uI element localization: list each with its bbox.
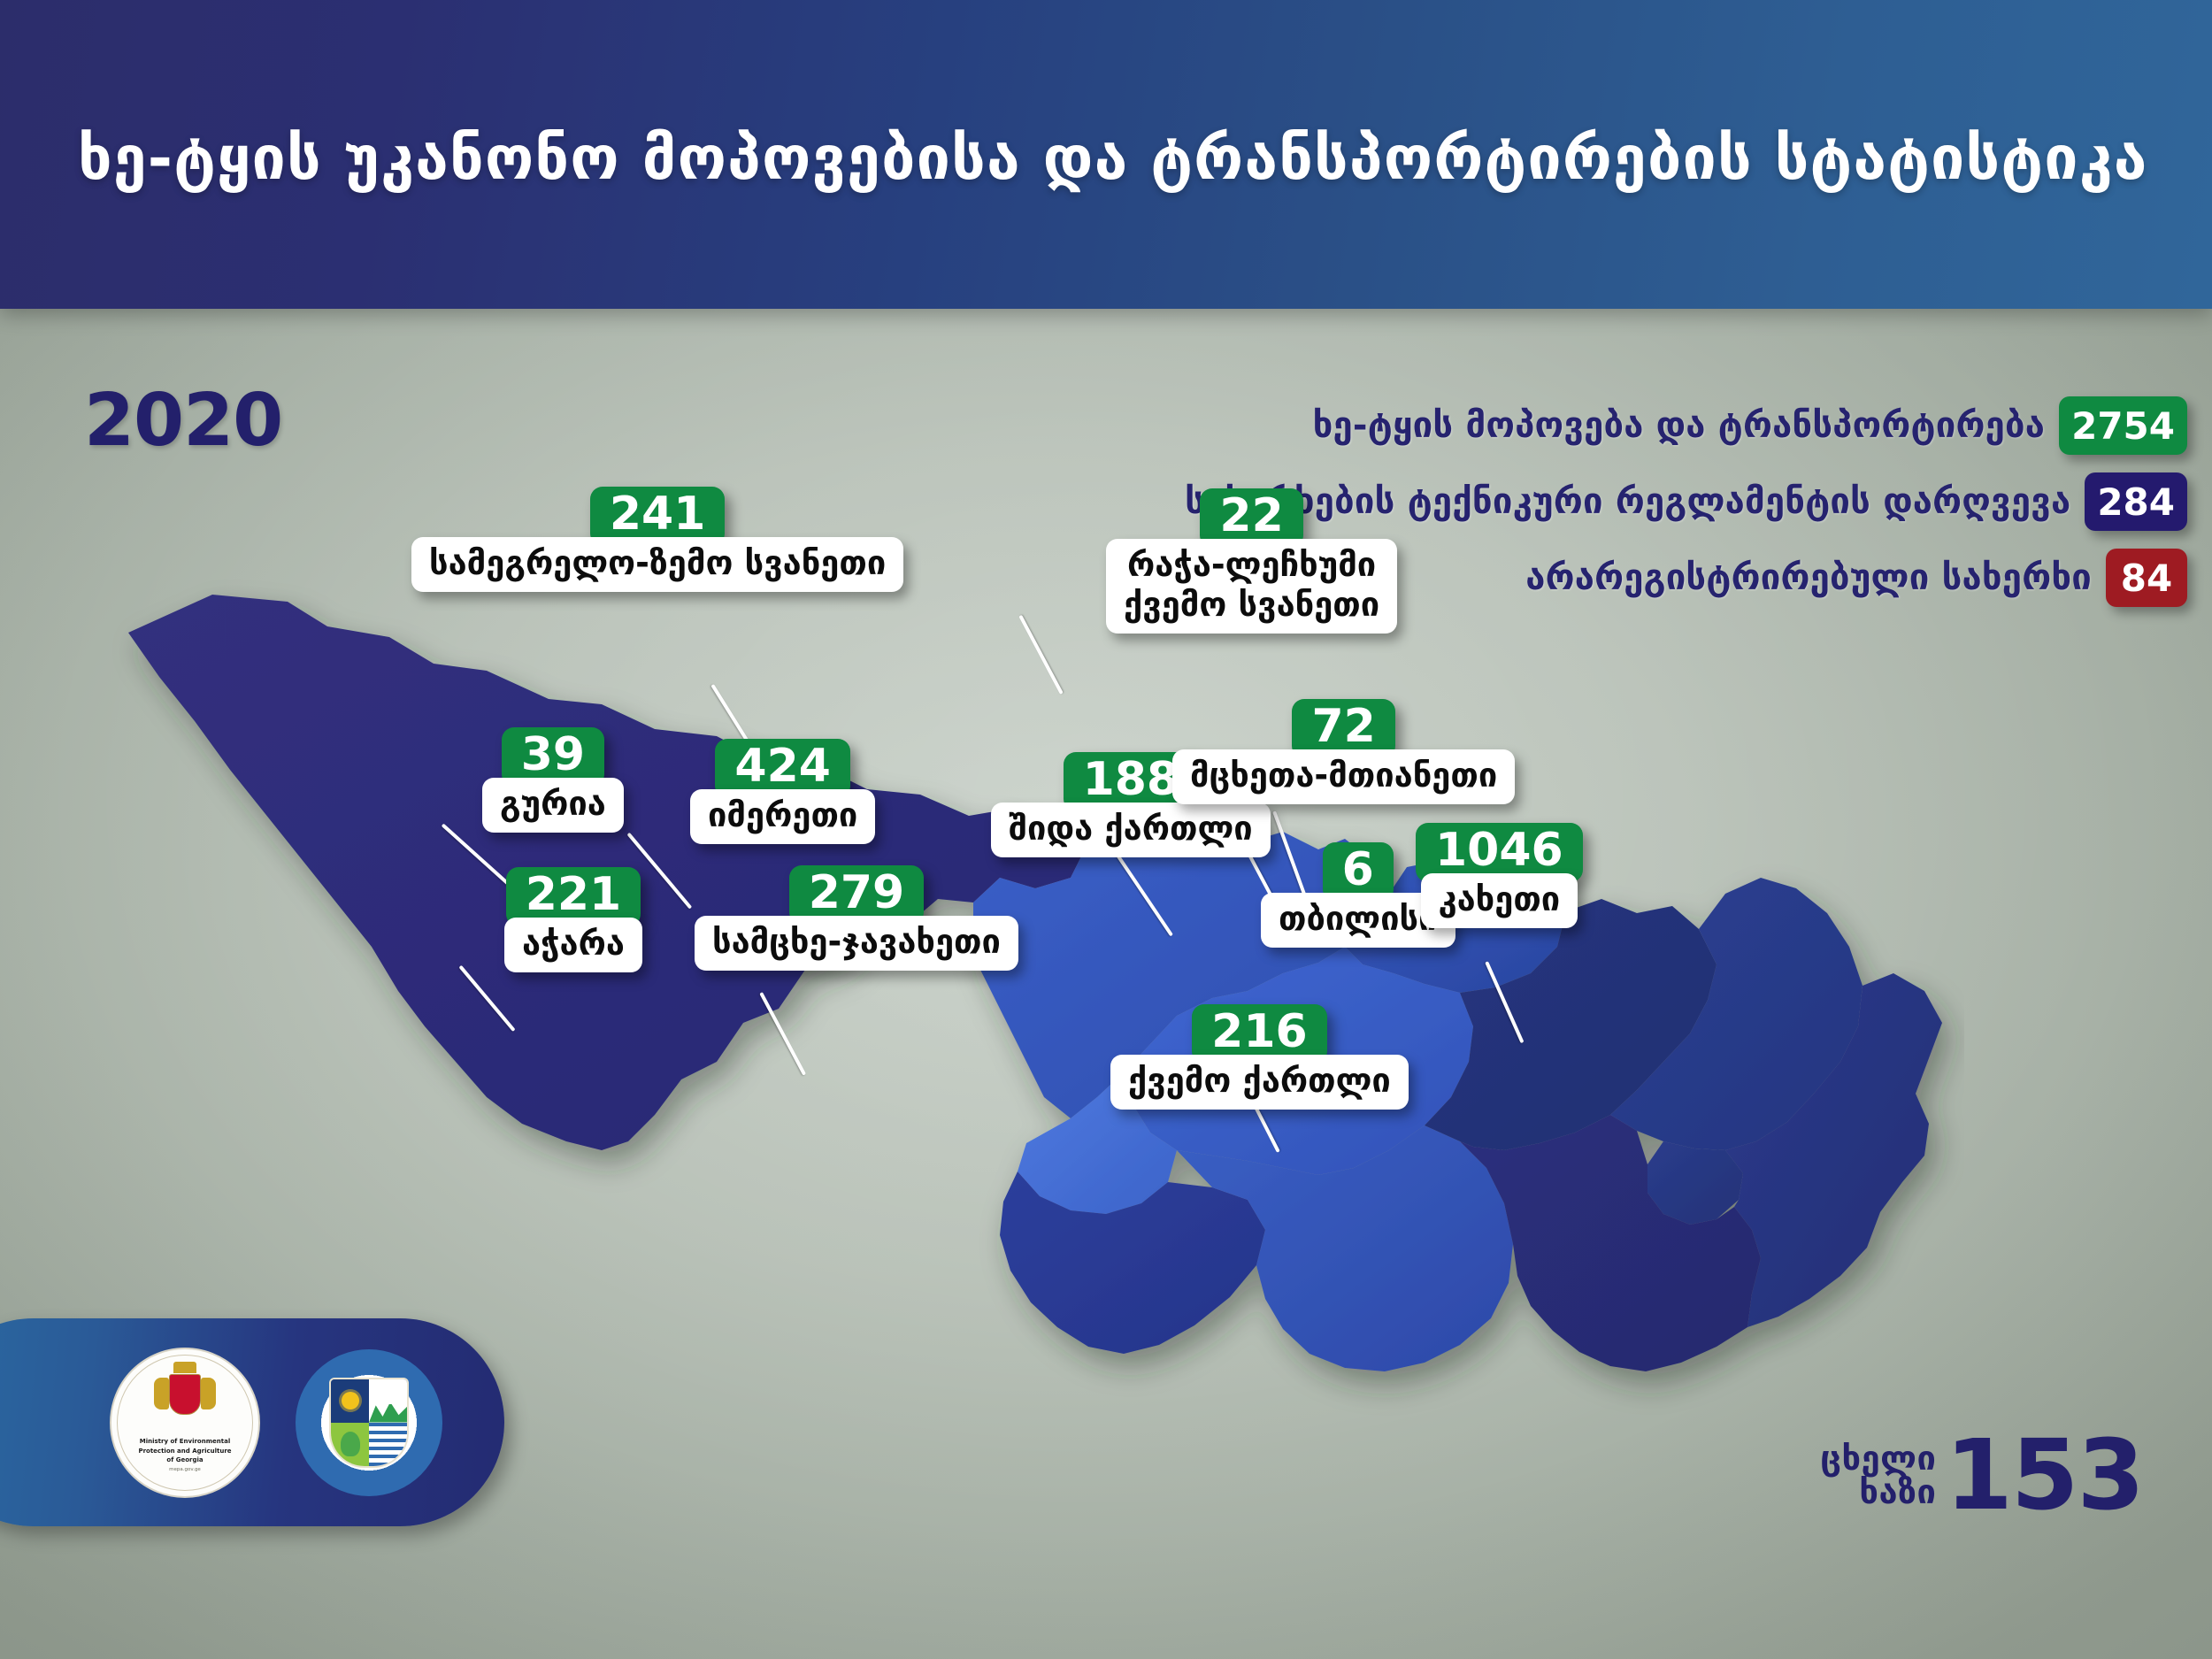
ministry-logo: Ministry of Environmental Protection and…	[110, 1348, 260, 1498]
department-shield-icon	[329, 1378, 409, 1468]
infographic-poster: ხე-ტყის უკანონო მოპოვებისა და ტრანსპორტი…	[0, 0, 2212, 1659]
map-marker-mtskheta-mtianeti[interactable]: 72 მცხეთა-მთიანეთი	[1172, 699, 1515, 804]
quadrant-water	[369, 1423, 407, 1466]
marker-label: იმერეთი	[690, 789, 875, 844]
map-marker-racha-lechkhumi[interactable]: 22 რაჭა-ლეჩხუმი ქვემო სვანეთი	[1106, 488, 1397, 634]
map-marker-kvemo-kartli[interactable]: 216 ქვემო ქართლი	[1110, 1004, 1409, 1110]
quadrant-sun	[331, 1379, 369, 1423]
hotline-label-line2: ხაზი	[1859, 1475, 1936, 1509]
legend-label: ხე-ტყის მოპოვება და ტრანსპორტირება	[1313, 405, 2045, 446]
department-logo	[296, 1349, 442, 1496]
map-marker-adjara[interactable]: 221 აჭარა	[504, 867, 642, 972]
map-marker-samegrelo-zemo-svaneti[interactable]: 241 სამეგრელო-ზემო სვანეთი	[411, 487, 903, 592]
quadrant-tree	[331, 1423, 369, 1466]
waves-icon	[369, 1423, 407, 1466]
map-marker-imereti[interactable]: 424 იმერეთი	[690, 739, 875, 844]
legend-value-badge: 84	[2106, 549, 2187, 607]
georgia-coat-of-arms-icon	[152, 1362, 218, 1436]
marker-label: შიდა ქართლი	[991, 803, 1271, 857]
tree-icon	[341, 1432, 360, 1456]
map-svg	[106, 531, 1964, 1416]
header-banner: ხე-ტყის უკანონო მოპოვებისა და ტრანსპორტი…	[0, 0, 2212, 309]
legend-row: ხე-ტყის მოპოვება და ტრანსპორტირება 2754	[931, 396, 2187, 455]
mountains-icon	[369, 1396, 407, 1422]
page-title: ხე-ტყის უკანონო მოპოვებისა და ტრანსპორტი…	[78, 124, 2148, 194]
map-marker-samtskhe-javakheti[interactable]: 279 სამცხე-ჯავახეთი	[695, 865, 1018, 971]
marker-label: მცხეთა-მთიანეთი	[1172, 749, 1515, 804]
georgia-map: 241 სამეგრელო-ზემო სვანეთი 22 რაჭა-ლეჩხუ…	[106, 531, 1964, 1416]
marker-label: კახეთი	[1421, 873, 1578, 928]
legend-value-badge: 284	[2085, 472, 2187, 531]
marker-label: ქვემო ქართლი	[1110, 1055, 1409, 1110]
marker-label: რაჭა-ლეჩხუმი ქვემო სვანეთი	[1106, 539, 1397, 634]
hotline-number: 153	[1945, 1433, 2143, 1517]
marker-label: სამეგრელო-ზემო სვანეთი	[411, 537, 903, 592]
crown-icon	[173, 1362, 196, 1373]
marker-label: გურია	[482, 778, 624, 833]
hotline-label-line1: ცხელი	[1820, 1441, 1936, 1476]
year-label: 2020	[84, 379, 282, 463]
quadrant-mountains	[369, 1379, 407, 1423]
logo-bar: Ministry of Environmental Protection and…	[0, 1318, 504, 1526]
legend-value-badge: 2754	[2059, 396, 2187, 455]
lion-left-icon	[154, 1378, 169, 1409]
map-marker-kakheti[interactable]: 1046 კახეთი	[1416, 823, 1583, 928]
hotline: ცხელი ხაზი 153	[1820, 1433, 2143, 1517]
hotline-label: ცხელი ხაზი	[1820, 1441, 1936, 1510]
shield-icon	[169, 1374, 201, 1415]
marker-label: სამცხე-ჯავახეთი	[695, 916, 1018, 971]
sun-icon	[342, 1392, 359, 1409]
map-marker-guria[interactable]: 39 გურია	[482, 727, 624, 833]
map-regions	[128, 595, 1942, 1371]
lion-right-icon	[201, 1378, 216, 1409]
marker-label: აჭარა	[504, 918, 642, 972]
